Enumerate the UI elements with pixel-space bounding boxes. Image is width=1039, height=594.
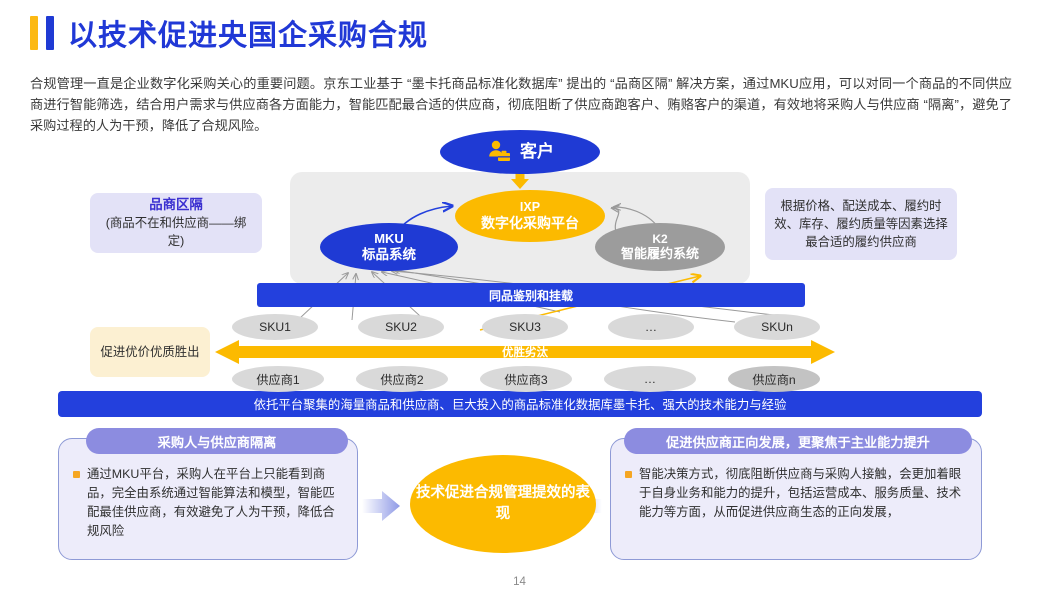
center-summary-node: 技术促进合规管理提效的表现: [410, 455, 596, 553]
note-fulfillment-criteria: 根据价格、配送成本、履约时效、库存、履约质量等因素选择最合适的履约供应商: [765, 188, 957, 260]
note-left-title: 品商区隔: [149, 196, 203, 214]
bullet-icon: [73, 471, 80, 478]
k2-code: K2: [652, 232, 667, 247]
note-left-sub: (商品不在和供应商——绑定): [98, 214, 254, 250]
benefit-card-left: 采购人与供应商隔离 通过MKU平台，采购人在平台上只能看到商品，完全由系统通过智…: [58, 438, 358, 560]
bullet-icon: [625, 471, 632, 478]
note-right-text: 根据价格、配送成本、履约时效、库存、履约质量等因素选择最合适的履约供应商: [773, 197, 949, 251]
supplier-pill-label: 供应商3: [504, 370, 547, 388]
sku-pill-label: …: [645, 320, 657, 334]
arrow-right-icon: [362, 489, 402, 523]
benefit-card-right-text: 智能决策方式，彻底阻断供应商与采购人接触，会更加着眼于自身业务和能力的提升，包括…: [639, 465, 969, 522]
customer-label: 客户: [520, 142, 554, 163]
k2-name: 智能履约系统: [621, 246, 699, 262]
supplier-pill[interactable]: 供应商3: [480, 366, 572, 392]
person-briefcase-icon: [486, 139, 512, 165]
survival-of-fittest-arrow: 优胜劣汰: [215, 338, 835, 366]
sku-pill[interactable]: SKUn: [734, 314, 820, 340]
supplier-pill-label: 供应商2: [380, 370, 423, 388]
note-best-price-quality-wins: 促进优价优质胜出: [90, 327, 210, 377]
title-accent-blue-bar: [46, 16, 54, 50]
title-accent-yellow-bar: [30, 16, 38, 50]
benefit-card-right-heading: 促进供应商正向发展，更聚焦于主业能力提升: [624, 428, 972, 454]
note-product-supplier-separation: 品商区隔 (商品不在和供应商——绑定): [90, 193, 262, 253]
benefit-card-right-body: 智能决策方式，彻底阻断供应商与采购人接触，会更加着眼于自身业务和能力的提升，包括…: [625, 465, 969, 522]
mku-name: 标品系统: [362, 247, 416, 263]
band-same-product-identification: 同品鉴别和挂载: [257, 283, 805, 307]
survival-arrow-label: 优胜劣汰: [215, 338, 835, 366]
k2-system-node[interactable]: K2 智能履约系统: [595, 223, 725, 271]
sku-pill-label: SKUn: [761, 320, 793, 334]
page-title: 以技术促进央国企采购合规: [68, 12, 428, 54]
supplier-pill[interactable]: 供应商n: [728, 366, 820, 392]
supplier-pill-label: …: [644, 372, 656, 386]
sku-pill[interactable]: SKU3: [482, 314, 568, 340]
customer-node[interactable]: 客户: [440, 130, 600, 174]
ixp-platform-node[interactable]: IXP 数字化采购平台: [455, 190, 605, 242]
page-number: 14: [0, 576, 1039, 588]
supplier-pill-label: 供应商n: [752, 370, 795, 388]
supplier-pill[interactable]: 供应商2: [356, 366, 448, 392]
sku-pill[interactable]: SKU2: [358, 314, 444, 340]
supplier-pill[interactable]: …: [604, 366, 696, 392]
supplier-pill-label: 供应商1: [256, 370, 299, 388]
intro-paragraph: 合规管理一直是企业数字化采购关心的重要问题。京东工业基于 “墨卡托商品标准化数据…: [30, 73, 1012, 136]
benefit-card-left-heading: 采购人与供应商隔离: [86, 428, 348, 454]
center-summary-label: 技术促进合规管理提效的表现: [410, 483, 596, 525]
sku-pill-label: SKU3: [509, 320, 541, 334]
foundation-capability-bar: 依托平台聚集的海量商品和供应商、巨大投入的商品标准化数据库墨卡托、强大的技术能力…: [58, 391, 982, 417]
benefit-card-left-text: 通过MKU平台，采购人在平台上只能看到商品，完全由系统通过智能算法和模型，智能匹…: [87, 465, 345, 541]
sku-pill[interactable]: SKU1: [232, 314, 318, 340]
sku-pill[interactable]: …: [608, 314, 694, 340]
diagram-stage: 客户 IXP 数字化采购平台 MKU 标品系统 K2 智能履约系统 品商区隔 (…: [0, 130, 1039, 430]
foundation-label: 依托平台聚集的海量商品和供应商、巨大投入的商品标准化数据库墨卡托、强大的技术能力…: [254, 395, 787, 413]
band-tongpin-label: 同品鉴别和挂载: [489, 287, 573, 304]
benefit-card-left-body: 通过MKU平台，采购人在平台上只能看到商品，完全由系统通过智能算法和模型，智能匹…: [73, 465, 345, 541]
ixp-name: 数字化采购平台: [481, 215, 579, 232]
sku-pill-label: SKU2: [385, 320, 417, 334]
ixp-code: IXP: [520, 200, 540, 215]
page-header: 以技术促进央国企采购合规: [30, 12, 428, 54]
mku-code: MKU: [374, 231, 404, 247]
benefit-card-right: 促进供应商正向发展，更聚焦于主业能力提升 智能决策方式，彻底阻断供应商与采购人接…: [610, 438, 982, 560]
mku-system-node[interactable]: MKU 标品系统: [320, 223, 458, 271]
sku-pill-label: SKU1: [259, 320, 291, 334]
supplier-pill[interactable]: 供应商1: [232, 366, 324, 392]
note-yellow-text: 促进优价优质胜出: [100, 344, 199, 361]
